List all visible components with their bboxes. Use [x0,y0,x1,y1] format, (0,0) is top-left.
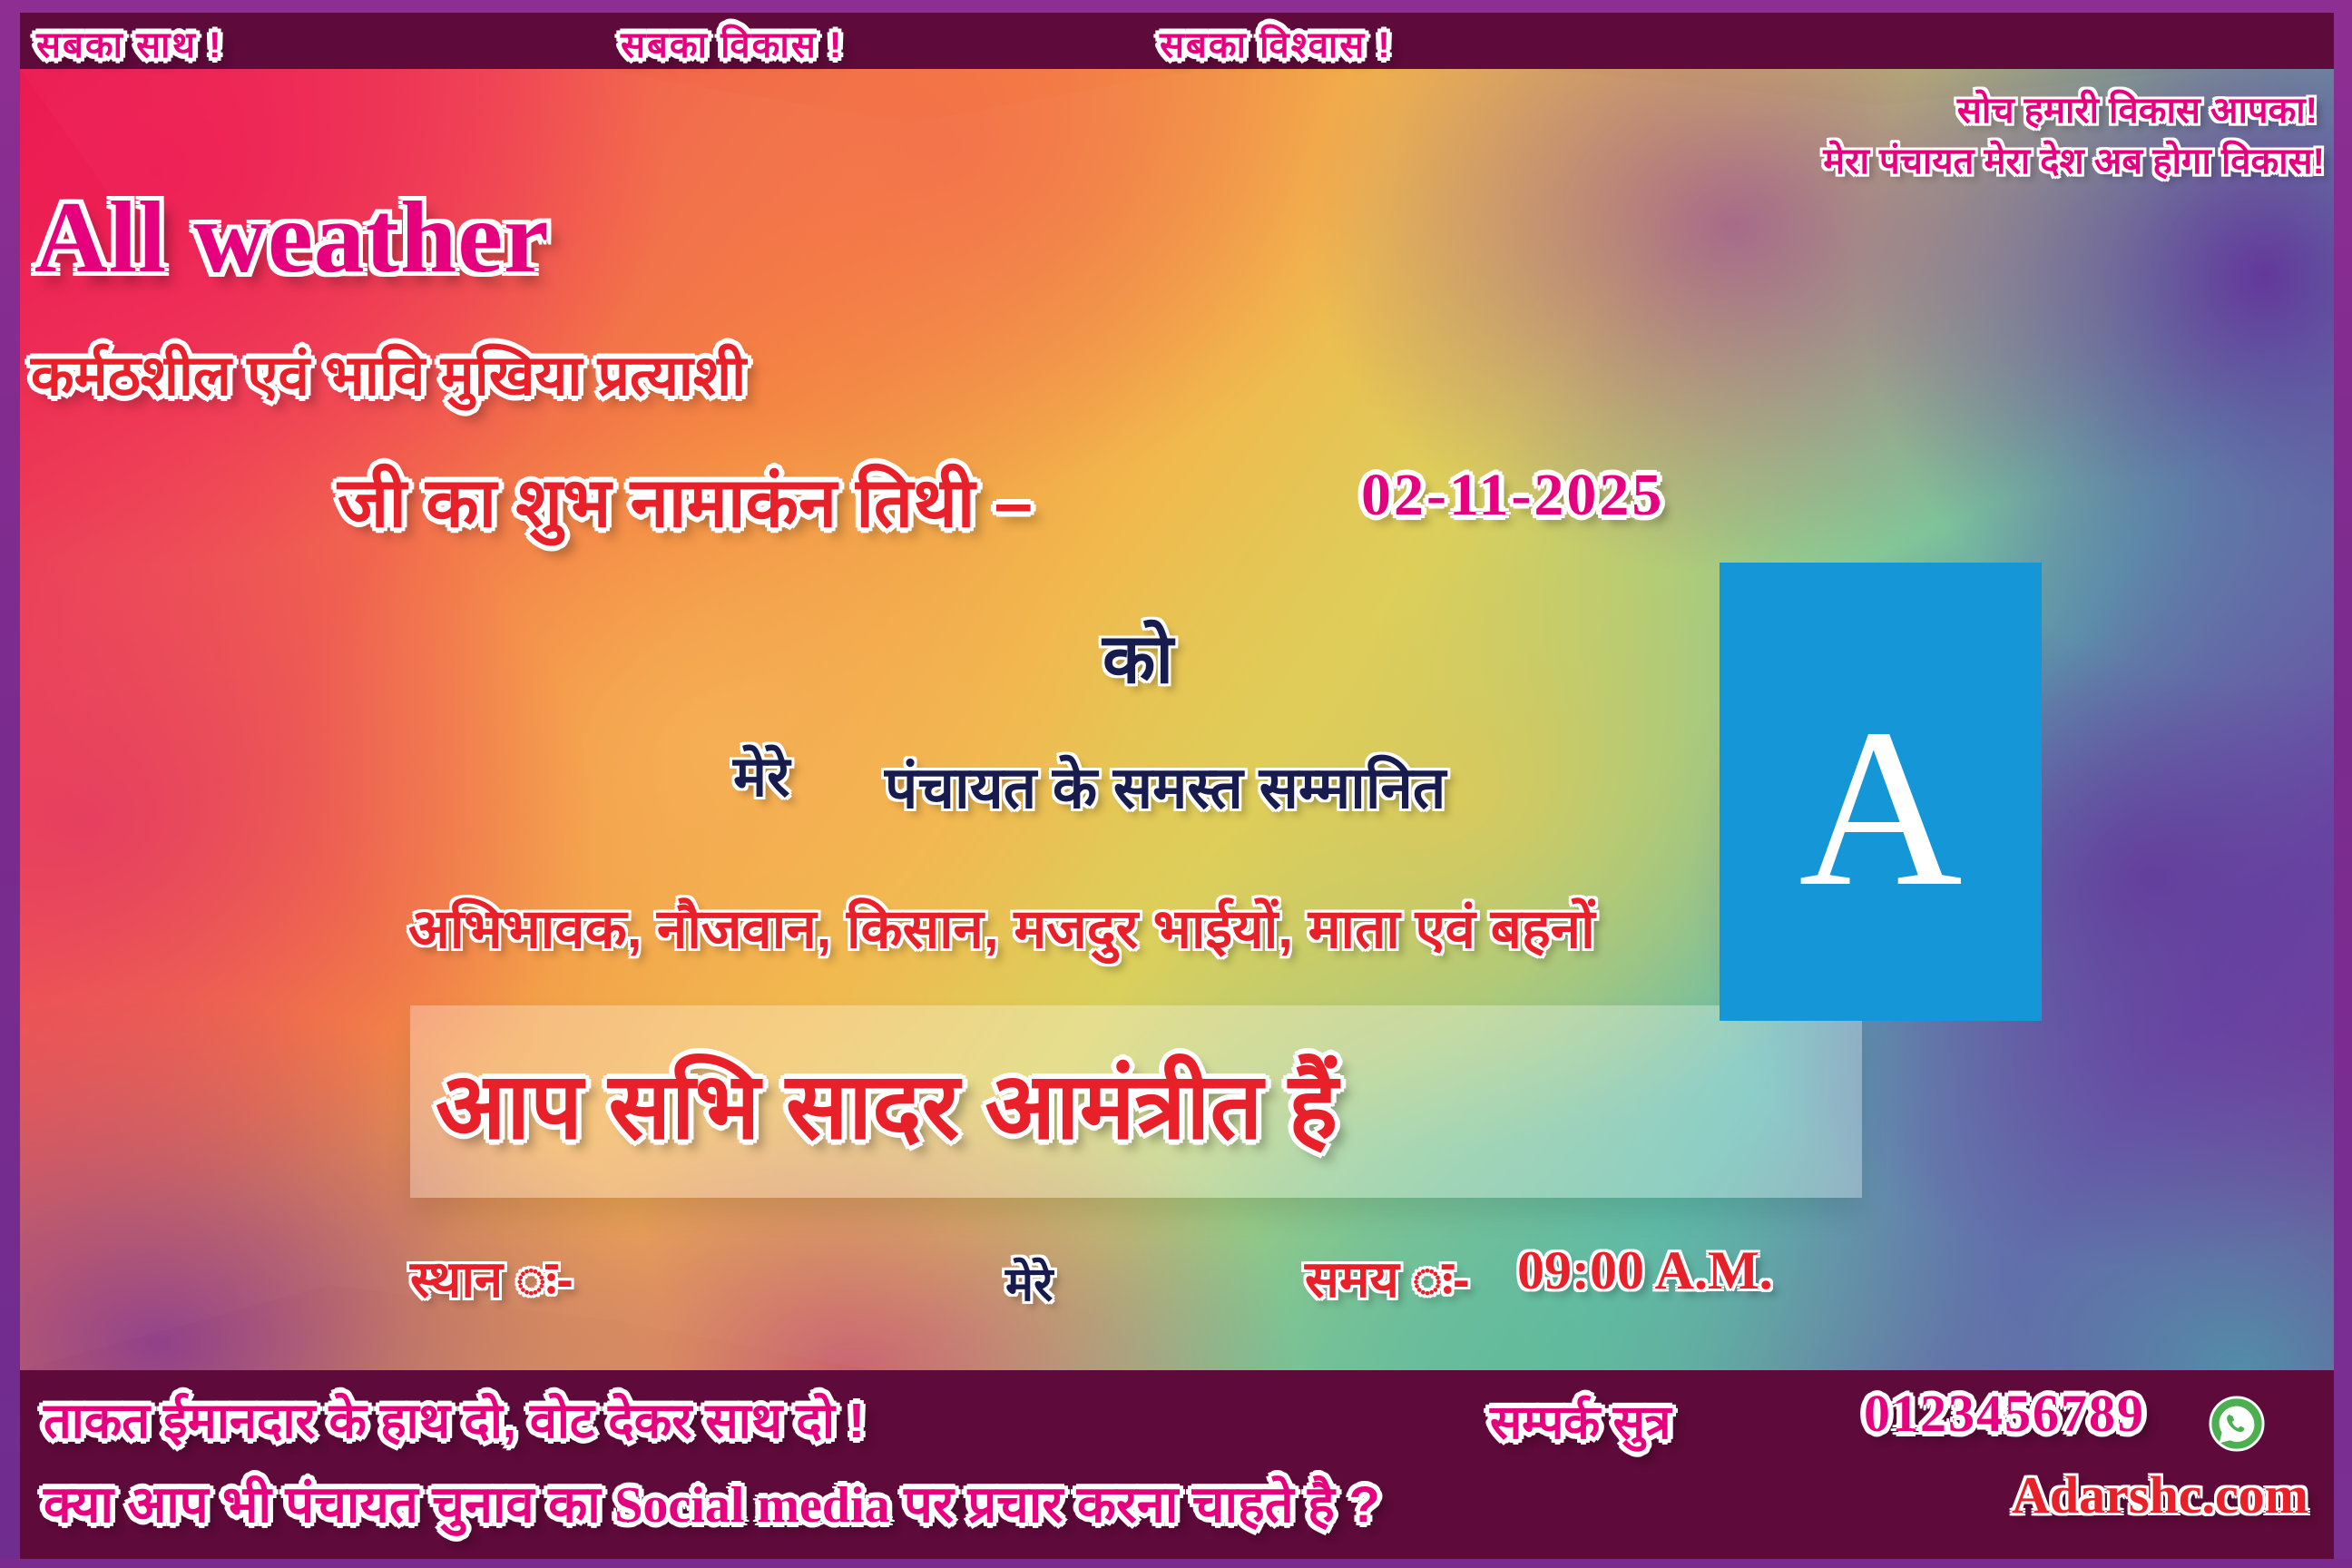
panchayat-line: पंचायत के समस्त सम्मानित [885,746,1445,825]
candidate-photo-placeholder: A [1720,563,2042,1021]
website-link[interactable]: Adarshc.com [2012,1465,2308,1525]
nomination-label: जी का शुभ नामाकंन तिथी – [338,454,1033,547]
invitation-line: आप सभि सादर आमंत्रीत हैं [436,1039,1338,1165]
panchayat-name-placeholder: मेरे [733,737,789,813]
nomination-date-value: 02-11-2025 [1361,461,1664,530]
bottom-slogan: ताकत ईमानदार के हाथ दो, वोट देकर साथ दो … [44,1385,865,1452]
header-slogan-line-2: मेरा पंचायत मेरा देश अब होगा विकास! [1823,134,2325,184]
promo-text-part2: पर प्रचार करना चाहते है ? [904,1475,1380,1533]
top-slogan-center: सबका विकास ! [621,18,843,68]
header-slogan-line-1: सोच हमारी विकास आपका! [1957,83,2318,133]
contact-label: सम्पर्क सुत्र [1490,1388,1671,1453]
candidate-role-line: कर्मठशील एवं भावि मुखिया प्रत्याशी [31,336,746,412]
top-slogan-left: सबका साथ ! [36,18,222,68]
time-label: समय ः- [1305,1243,1470,1312]
contact-phone-number[interactable]: 0123456789 [1864,1383,2145,1444]
promo-text-part1: क्या आप भी पंचायत चुनाव का [44,1475,614,1533]
place-label: स्थान ः- [410,1243,573,1312]
time-value: 09:00 A.M. [1517,1240,1773,1302]
promo-text-english: Social media [614,1477,889,1534]
poster-canvas: A सबका साथ ! सबका विकास ! सबका विश्वास !… [0,0,2352,1568]
bottom-band-row-2: क्या आप भी पंचायत चुनाव का Social media … [20,1461,2334,1552]
top-slogan-band: सबका साथ ! सबका विकास ! सबका विश्वास ! [20,13,2334,69]
place-value: मेरे [1005,1250,1053,1315]
guardians-line: अभिभावक, नौजवान, किसान, मजदुर भाईयों, मा… [408,889,1595,964]
top-slogan-right: सबका विश्वास ! [1160,18,1392,68]
bottom-band: ताकत ईमानदार के हाथ दो, वोट देकर साथ दो … [20,1370,2334,1559]
frame-top-edge [0,0,2352,13]
whatsapp-icon[interactable] [2209,1396,2265,1452]
promo-text: क्या आप भी पंचायत चुनाव का Social media … [44,1468,1380,1537]
frame-right-edge [2334,0,2352,1568]
frame-bottom-edge [0,1559,2352,1568]
candidate-name-english: All weather [34,180,550,297]
connector-ko: को [1102,610,1173,703]
frame-left-edge [0,0,20,1568]
bottom-band-row-1: ताकत ईमानदार के हाथ दो, वोट देकर साथ दो … [20,1376,2334,1459]
photo-placeholder-letter: A [1798,695,1963,922]
